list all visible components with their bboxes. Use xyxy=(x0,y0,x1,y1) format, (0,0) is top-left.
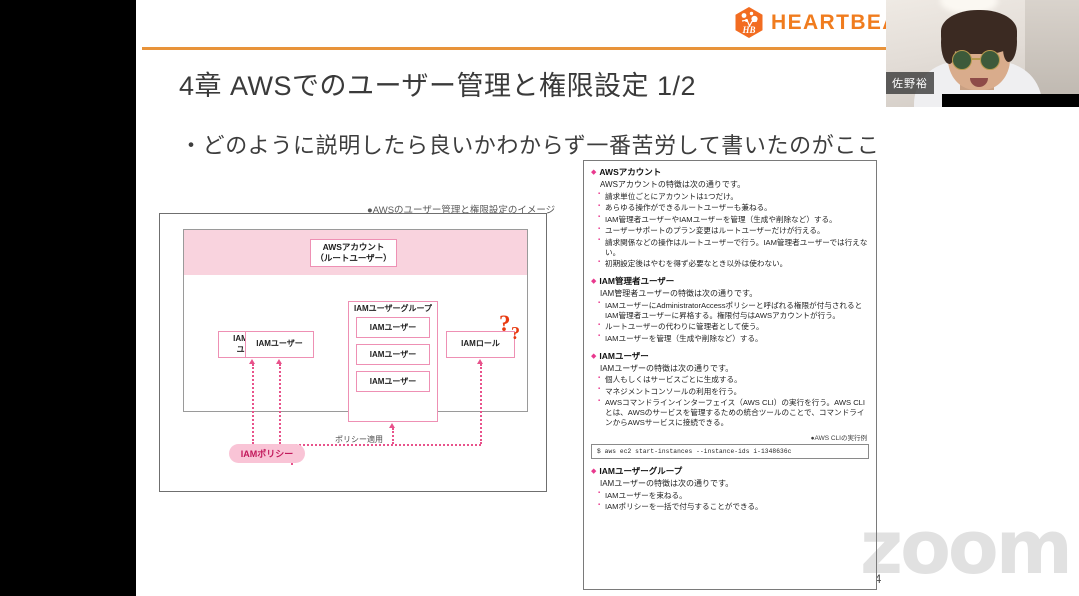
question-mark-icon: ? xyxy=(499,311,511,337)
policy-apply-label: ポリシー適用 xyxy=(335,434,383,445)
logo-wordmark: HEARTBEA xyxy=(771,11,899,35)
svg-text:HB: HB xyxy=(741,25,755,35)
policy-arrow-group xyxy=(389,423,395,428)
diamond-bullet-icon: ◆ xyxy=(591,353,596,360)
iam-user-group-member: IAMユーザー xyxy=(356,344,430,365)
participant-name-badge: 佐野裕 xyxy=(886,72,934,94)
list-item: AWSコマンドラインインターフェイス（AWS CLI）の実行を行う。AWS CL… xyxy=(605,398,869,428)
zoom-shared-screen: HB HEARTBEA 4章 AWSでのユーザー管理と権限設定 1/2 ・どのよ… xyxy=(0,0,1079,596)
policy-arrow-admin xyxy=(249,359,255,364)
diamond-bullet-icon: ◆ xyxy=(591,278,596,285)
list-item: 初期設定後はやむを得ず必要なとき以外は使わない。 xyxy=(605,259,869,269)
policy-branch-admin xyxy=(252,364,254,444)
list-item: 個人もしくはサービスごとに生成する。 xyxy=(605,375,869,385)
iam-user-group-member: IAMユーザー xyxy=(356,371,430,392)
section-lead: IAM管理者ユーザーの特徴は次の通りです。 xyxy=(600,288,869,299)
iam-architecture-diagram: AWSアカウント （ルートユーザー） IAMユーザーグループ IAMユーザー I… xyxy=(159,213,547,492)
iam-user-box: IAMユーザー xyxy=(245,331,314,358)
sunglasses-bridge-icon xyxy=(972,58,981,60)
list-item: IAMユーザーにAdministratorAccessポリシーと呼ばれる権限が付… xyxy=(605,301,869,321)
iam-reference-text-panel: ◆ AWSアカウント AWSアカウントの特徴は次の通りです。 請求単位ごとにアカ… xyxy=(583,160,877,590)
aws-account-box-line2: （ルートユーザー） xyxy=(315,253,391,263)
section-lead: IAMユーザーの特徴は次の通りです。 xyxy=(600,478,869,489)
slide-bullet-text: ・どのように説明したら良いかわからず一番苦労して書いたのがここ xyxy=(180,128,880,160)
sunglasses-left-lens-icon xyxy=(952,50,972,70)
list-item: あらゆる操作ができるルートユーザーも兼ねる。 xyxy=(605,203,869,213)
participant-hair-right xyxy=(1003,28,1017,62)
diamond-bullet-icon: ◆ xyxy=(591,169,596,176)
heartbeat-hexagon-icon: HB xyxy=(734,6,764,39)
list-item: IAM管理者ユーザーやIAMユーザーを管理（生成や削除など）する。 xyxy=(605,215,869,225)
diamond-bullet-icon: ◆ xyxy=(591,468,596,475)
aws-account-box-line1: AWSアカウント xyxy=(323,242,385,252)
policy-arrow-role xyxy=(477,359,483,364)
policy-arrow-user xyxy=(276,359,282,364)
aws-account-box: AWSアカウント （ルートユーザー） xyxy=(310,239,397,267)
section-heading-iam-admin-user: ◆ IAM管理者ユーザー xyxy=(591,275,869,287)
section-heading-aws-account: ◆ AWSアカウント xyxy=(591,166,869,178)
list-item: IAMユーザーを束ねる。 xyxy=(605,491,869,501)
participant-video-tile[interactable]: 佐野裕 xyxy=(886,0,1079,107)
iam-user-group-member: IAMユーザー xyxy=(356,317,430,338)
list-item: ルートユーザーの代わりに管理者として使う。 xyxy=(605,322,869,332)
section-lead: IAMユーザーの特徴は次の通りです。 xyxy=(600,363,869,374)
heartbeat-logo: HB HEARTBEA xyxy=(734,6,899,39)
section-heading-iam-user: ◆ IAMユーザー xyxy=(591,350,869,362)
list-item: IAMポリシーを一括で付与することができる。 xyxy=(605,502,869,512)
list-item: 請求関係などの操作はルートユーザーで行う。IAM管理者ユーザーでは行えない。 xyxy=(605,238,869,258)
question-mark-icon: ? xyxy=(511,323,520,344)
list-item: IAMユーザーを管理（生成や削除など）する。 xyxy=(605,334,869,344)
policy-branch-group xyxy=(392,428,394,444)
cli-command-block: $ aws ec2 start-instances --instance-ids… xyxy=(591,444,869,459)
iam-policy-pill: IAMポリシー xyxy=(229,444,305,463)
page-title: 4章 AWSでのユーザー管理と権限設定 1/2 xyxy=(179,64,696,103)
section-lead: AWSアカウントの特徴は次の通りです。 xyxy=(600,179,869,190)
section-heading-iam-user-group: ◆ IAMユーザーグループ xyxy=(591,465,869,477)
video-letterbox-strip xyxy=(942,94,1079,107)
list-item: 請求単位ごとにアカウントは1つだけ。 xyxy=(605,192,869,202)
sunglasses-right-lens-icon xyxy=(980,50,1000,70)
list-item: ユーザーサポートのプラン変更はルートユーザーだけが行える。 xyxy=(605,226,869,236)
policy-branch-role xyxy=(480,364,482,444)
iam-user-group-title: IAMユーザーグループ xyxy=(348,303,438,314)
cli-example-caption: ●AWS CLIの実行例 xyxy=(591,432,867,442)
list-item: マネジメントコンソールの利用を行う。 xyxy=(605,387,869,397)
policy-branch-user xyxy=(279,364,281,444)
zoom-watermark: zoom xyxy=(860,505,1070,591)
